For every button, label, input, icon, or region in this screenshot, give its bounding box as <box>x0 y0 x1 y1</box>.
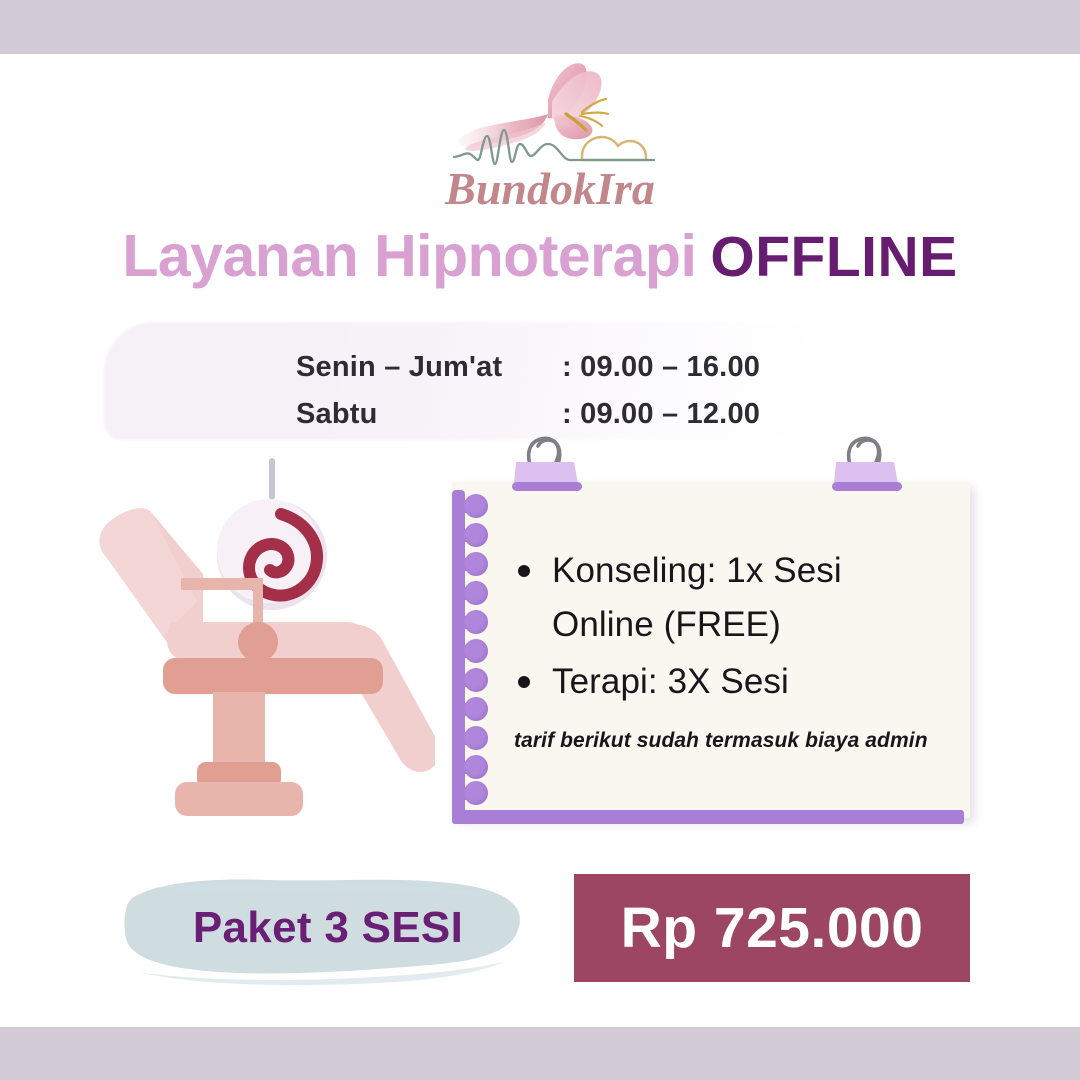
top-border-band <box>0 0 1080 54</box>
notepad-footnote: tarif berikut sudah termasuk biaya admin <box>514 729 944 753</box>
therapy-chair-illustration <box>85 452 435 842</box>
list-item: Konseling: 1x Sesi Online (FREE) <box>514 544 944 653</box>
notepad-ring <box>454 645 482 658</box>
notepad-content: Konseling: 1x Sesi Online (FREE) Terapi:… <box>514 544 944 753</box>
headline-service: Layanan Hipnoterapi <box>122 223 696 289</box>
notepad-ring <box>454 616 482 629</box>
notepad-ring <box>454 529 482 542</box>
binder-clip-icon <box>832 430 904 492</box>
list-item: Terapi: 3X Sesi <box>514 655 944 709</box>
bullet-icon <box>518 676 530 688</box>
list-item-label: Terapi: 3X Sesi <box>552 662 789 701</box>
poster-canvas: BundokIra Layanan HipnoterapiOFFLINE Sen… <box>0 0 1080 1080</box>
brand-wordmark: BundokIra <box>444 163 655 214</box>
brand-logo: BundokIra <box>430 52 670 217</box>
notepad-ring <box>454 558 482 571</box>
notepad-card: Konseling: 1x Sesi Online (FREE) Terapi:… <box>452 482 970 834</box>
cloud-icon <box>582 137 646 160</box>
schedule-time: : 09.00 – 12.00 <box>562 391 852 438</box>
notepad-ring <box>454 703 482 716</box>
notepad-ring <box>454 761 482 774</box>
butterfly-icon <box>459 63 608 151</box>
package-label-text: Paket 3 SESI <box>193 903 463 953</box>
price-badge: Rp 725.000 <box>574 874 970 982</box>
binder-clip-icon <box>512 430 584 492</box>
service-list: Konseling: 1x Sesi Online (FREE) Terapi:… <box>514 544 944 709</box>
notepad-ring <box>454 587 482 600</box>
list-item-label: Konseling: 1x Sesi Online (FREE) <box>552 551 842 644</box>
package-badge: Paket 3 SESI <box>118 868 538 988</box>
bottom-border-band <box>0 1027 1080 1080</box>
price-text: Rp 725.000 <box>621 895 924 961</box>
schedule-time: : 09.00 – 16.00 <box>562 344 852 391</box>
schedule-block: Senin – Jum'at : 09.00 – 16.00 Sabtu : 0… <box>296 344 856 438</box>
notepad-ring <box>454 787 482 800</box>
notepad-bottom-edge <box>452 810 964 824</box>
headline-mode: OFFLINE <box>710 225 957 289</box>
page-title: Layanan HipnoterapiOFFLINE <box>0 222 1080 290</box>
notepad-ring <box>454 674 482 687</box>
bullet-icon <box>518 565 530 577</box>
notepad-ring <box>454 732 482 745</box>
notepad-ring <box>454 500 482 513</box>
schedule-day: Senin – Jum'at <box>296 344 562 391</box>
schedule-row: Senin – Jum'at : 09.00 – 16.00 <box>296 344 852 391</box>
